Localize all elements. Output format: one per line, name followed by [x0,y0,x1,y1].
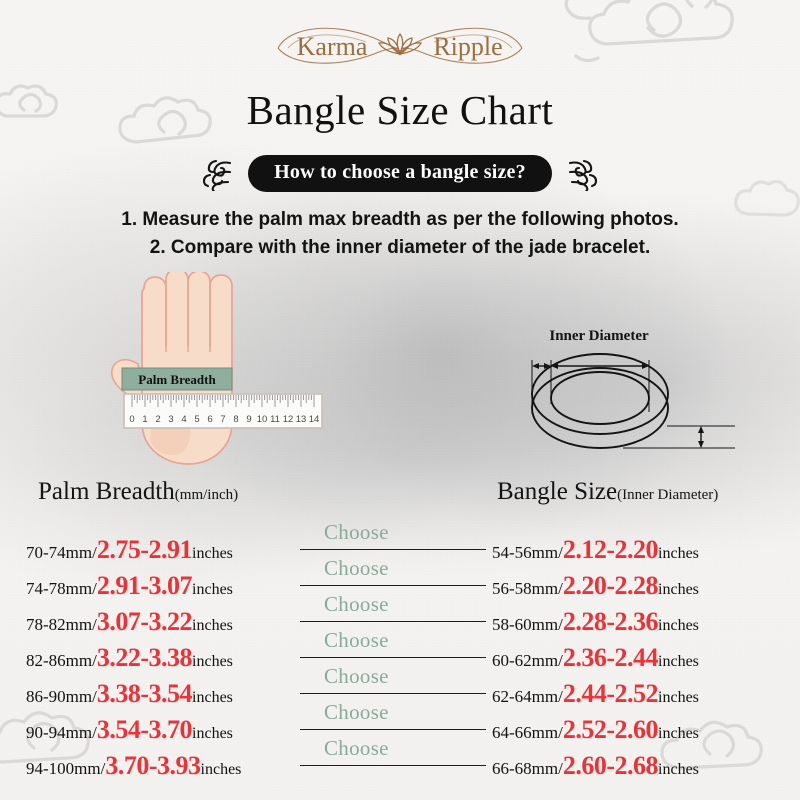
instructions-list: 1. Measure the palm max breadth as per t… [0,206,800,262]
brand-name-left: Karma [297,32,368,61]
choose-label[interactable]: Choose [324,628,389,653]
inches-unit: inches [658,545,699,562]
hand-measurement-illustration: Palm Breadth 01234567891011121314 [92,272,392,468]
inches-unit: inches [192,653,233,670]
choose-cell[interactable]: Choose [300,630,492,666]
ruler-tick-label: 2 [155,414,160,425]
section-header-palm-breadth: Palm Breadth(mm/inch) [38,478,238,506]
palm-mm-value: 90-94mm [26,723,92,742]
palm-inch-value: 3.38-3.54 [97,679,192,708]
ruler-graphic: 01234567891011121314 [124,394,322,428]
choose-label[interactable]: Choose [324,664,389,689]
choose-cell[interactable]: Choose [300,666,492,702]
inches-unit: inches [658,725,699,742]
brand-logo: Karma Ripple [0,18,800,72]
bangle-size-cell: 66-68mm/2.60-2.68inches [492,751,800,781]
bangle-size-cell: 60-62mm/2.36-2.44inches [492,643,800,673]
choose-cell[interactable]: Choose [300,522,492,558]
palm-breadth-cell: 90-94mm/3.54-3.70inches [0,715,300,745]
section-headers: Palm Breadth(mm/inch) Bangle Size(Inner … [0,478,800,510]
section-subtitle-left: (mm/inch) [175,487,238,503]
cloud-swirl-flourish-left-icon [200,157,234,191]
ruler-tick-label: 13 [296,414,307,425]
palm-breadth-cell: 78-82mm/3.07-3.22inches [0,607,300,637]
ruler-tick-label: 4 [181,414,186,425]
bangle-size-cell: 62-64mm/2.44-2.52inches [492,679,800,709]
bangle-size-cell: 64-66mm/2.52-2.60inches [492,715,800,745]
ruler-tick-label: 5 [194,414,199,425]
bangle-inch-value: 2.20-2.28 [563,571,658,600]
palm-mm-value: 94-100mm [26,759,101,778]
palm-mm-value: 70-74mm [26,543,92,562]
palm-breadth-label: Palm Breadth [138,372,216,387]
inches-unit: inches [192,725,233,742]
inches-unit: inches [192,581,233,598]
choose-cell[interactable]: Choose [300,702,492,738]
ruler-tick-label: 12 [283,414,294,425]
brand-logo-graphic: Karma Ripple [270,18,530,72]
palm-breadth-cell: 86-90mm/3.38-3.54inches [0,679,300,709]
ruler-tick-label: 10 [257,414,268,425]
inches-unit: inches [192,689,233,706]
palm-breadth-cell: 74-78mm/2.91-3.07inches [0,571,300,601]
inches-unit: inches [658,761,699,778]
bangle-inch-value: 2.44-2.52 [563,679,658,708]
choose-label[interactable]: Choose [324,700,389,725]
bangle-mm-value: 66-68mm [492,759,558,778]
choose-underline [300,585,486,586]
instruction-step-2: 2. Compare with the inner diameter of th… [0,234,800,262]
ruler-tick-label: 7 [220,414,225,425]
inches-unit: inches [192,545,233,562]
bangle-ring-shape [532,354,668,448]
choose-underline [300,729,486,730]
inches-unit: inches [658,689,699,706]
banner-row: How to choose a bangle size? [0,155,800,192]
bangle-inner-diameter-illustration: Inner Diameter [495,322,745,472]
banner-pill: How to choose a bangle size? [248,155,552,192]
palm-breadth-band: Palm Breadth [122,368,232,390]
choose-label[interactable]: Choose [324,592,389,617]
palm-mm-value: 74-78mm [26,579,92,598]
inches-unit: inches [201,761,242,778]
section-title-right: Bangle Size [497,478,617,505]
bangle-size-cell: 54-56mm/2.12-2.20inches [492,535,800,565]
bangle-inch-value: 2.36-2.44 [563,643,658,672]
bangle-mm-value: 54-56mm [492,543,558,562]
page-title: Bangle Size Chart [0,86,800,134]
cloud-swirl-flourish-right-icon [566,157,600,191]
ruler-tick-label: 8 [233,414,238,425]
palm-inch-value: 3.07-3.22 [97,607,192,636]
choose-underline [300,621,486,622]
palm-mm-value: 82-86mm [26,651,92,670]
choose-cell[interactable]: Choose [300,738,492,774]
bangle-inch-value: 2.28-2.36 [563,607,658,636]
section-header-bangle-size: Bangle Size(Inner Diameter) [497,478,718,506]
bangle-mm-value: 64-66mm [492,723,558,742]
bangle-mm-value: 60-62mm [492,651,558,670]
palm-breadth-cell: 94-100mm/3.70-3.93inches [0,751,300,781]
palm-inch-value: 3.22-3.38 [97,643,192,672]
inches-unit: inches [658,581,699,598]
choose-underline [300,693,486,694]
palm-inch-value: 2.75-2.91 [97,535,192,564]
choose-label[interactable]: Choose [324,520,389,545]
section-title-left: Palm Breadth [38,478,175,505]
choose-label[interactable]: Choose [324,556,389,581]
palm-breadth-cell: 70-74mm/2.75-2.91inches [0,535,300,565]
ruler-tick-label: 9 [246,414,251,425]
choose-cell[interactable]: Choose [300,594,492,630]
inner-diameter-label: Inner Diameter [549,328,649,344]
bangle-inch-value: 2.60-2.68 [563,751,658,780]
palm-mm-value: 78-82mm [26,615,92,634]
brand-name-right: Ripple [433,32,502,61]
inches-unit: inches [658,617,699,634]
bangle-inch-value: 2.52-2.60 [563,715,658,744]
bangle-size-cell: 56-58mm/2.20-2.28inches [492,571,800,601]
palm-inch-value: 2.91-3.07 [97,571,192,600]
choose-label[interactable]: Choose [324,736,389,761]
ruler-tick-label: 6 [207,414,212,425]
choose-underline [300,765,486,766]
table-row: 70-74mm/2.75-2.91inchesChoose54-56mm/2.1… [0,522,800,558]
palm-inch-value: 3.70-3.93 [105,751,200,780]
ruler-tick-label: 3 [168,414,173,425]
inches-unit: inches [192,617,233,634]
palm-breadth-cell: 82-86mm/3.22-3.38inches [0,643,300,673]
choose-cell[interactable]: Choose [300,558,492,594]
bangle-mm-value: 58-60mm [492,615,558,634]
section-subtitle-right: (Inner Diameter) [617,487,718,503]
ruler-tick-label: 1 [142,414,147,425]
choose-underline [300,657,486,658]
bangle-mm-value: 56-58mm [492,579,558,598]
ruler-tick-label: 0 [129,414,134,425]
palm-inch-value: 3.54-3.70 [97,715,192,744]
bangle-size-cell: 58-60mm/2.28-2.36inches [492,607,800,637]
size-table: 70-74mm/2.75-2.91inchesChoose54-56mm/2.1… [0,522,800,774]
inches-unit: inches [658,653,699,670]
palm-mm-value: 86-90mm [26,687,92,706]
bangle-mm-value: 62-64mm [492,687,558,706]
ruler-tick-label: 14 [309,414,320,425]
choose-underline [300,549,486,550]
ruler-tick-label: 11 [270,414,280,425]
instruction-step-1: 1. Measure the palm max breadth as per t… [0,206,800,234]
bangle-inch-value: 2.12-2.20 [563,535,658,564]
